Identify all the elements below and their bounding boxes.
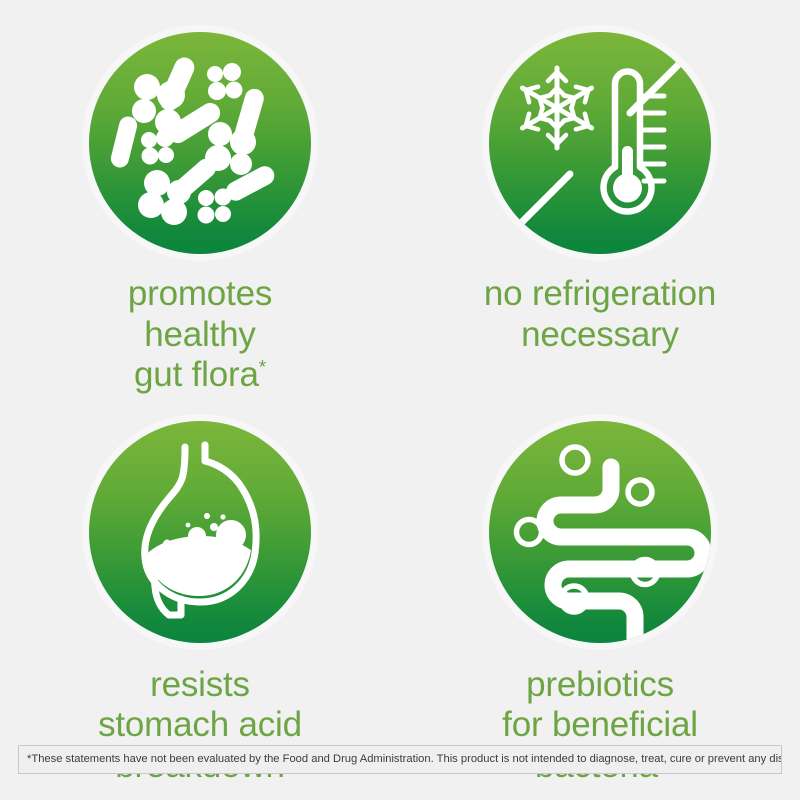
prohibition-slash xyxy=(515,58,685,229)
feature-card-prebiotics: prebiotics for beneficial bacteria* xyxy=(400,396,800,787)
feature-caption-gut-flora: promotes healthy gut flora* xyxy=(122,274,278,396)
badge-circle-stomach-acid xyxy=(89,421,311,643)
stomach-acid-icon xyxy=(89,421,311,643)
feature-card-stomach-acid: resists stomach acid breakdown xyxy=(0,396,400,787)
footnote-marker: * xyxy=(259,358,266,379)
bacteria-icon xyxy=(89,32,311,254)
snowflake-icon xyxy=(521,68,592,148)
feature-card-gut-flora: promotes healthy gut flora* xyxy=(0,0,400,396)
badge-circle-gut-flora xyxy=(89,32,311,254)
caption-text: no refrigeration necessary xyxy=(484,274,716,354)
feature-grid: promotes healthy gut flora* xyxy=(0,0,800,745)
thermometer-ticks xyxy=(644,96,664,181)
intestine-path xyxy=(545,467,703,641)
badge-circle-prebiotics xyxy=(489,421,711,643)
feature-card-no-refrigeration: no refrigeration necessary xyxy=(400,0,800,396)
caption-text: promotes healthy gut flora xyxy=(128,274,272,394)
product-benefits-panel: promotes healthy gut flora* xyxy=(0,0,800,800)
intestine-icon xyxy=(489,421,711,643)
badge-circle-no-refrigeration xyxy=(489,32,711,254)
feature-caption-no-refrigeration: no refrigeration necessary xyxy=(478,274,722,355)
fda-disclaimer: *These statements have not been evaluate… xyxy=(18,745,782,774)
no-refrigeration-icon xyxy=(489,32,711,254)
